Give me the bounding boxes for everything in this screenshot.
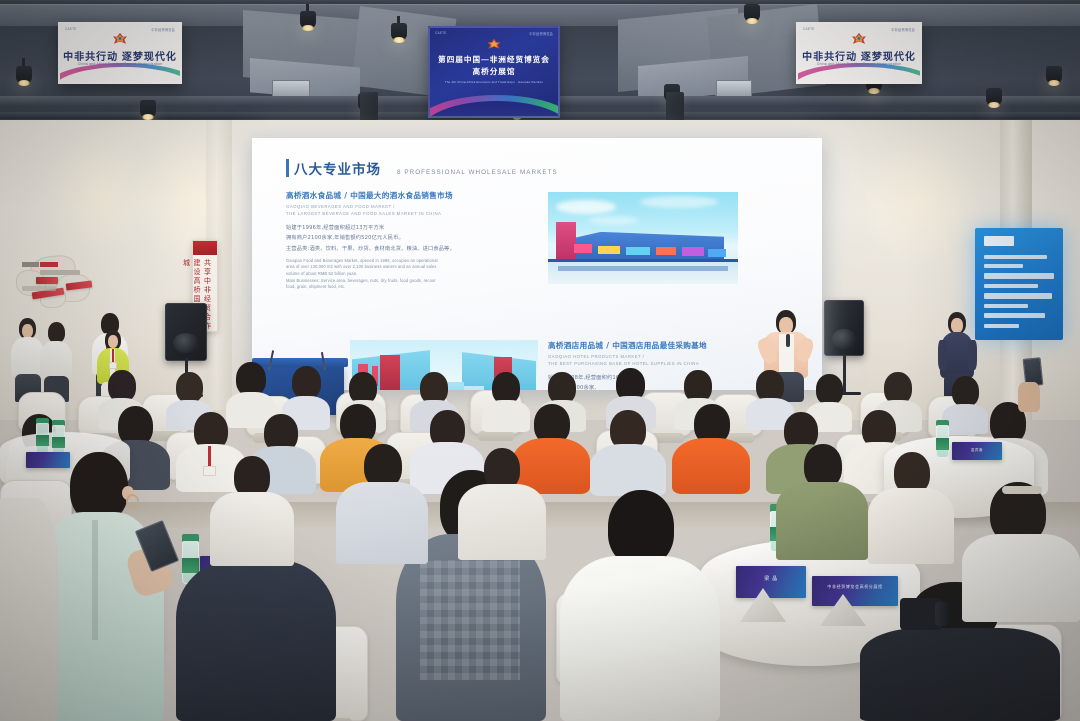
block-body-en-1: area of over 130,000 m2 with over 2,100 … [286, 264, 536, 271]
audience-body [590, 444, 666, 496]
attendee-mid-1 [336, 444, 428, 564]
ceiling-spotlight [1046, 66, 1062, 84]
banner-title-cn-line1: 第四届中国—非洲经贸博览会 [430, 54, 558, 65]
kiosk-header-bar [984, 236, 1014, 246]
block-body-en-0: Gaoqiao Food and Beverages Market, opene… [286, 258, 536, 265]
slide-title-en: 8 PROFESSIONAL WHOLESALE MARKETS [397, 169, 558, 179]
wall-tag-red [40, 262, 58, 267]
name-card: 梁 晶 [736, 566, 806, 598]
banner-logo-right: 中非经贸博览会 [529, 31, 553, 36]
ceiling-spotlight [744, 4, 760, 22]
slide-title-bar: 八大专业市场 8 PROFESSIONAL WHOLESALE MARKETS [286, 158, 800, 178]
block-body-en-4: food, grain, shipment food, etc. [286, 284, 536, 291]
audience-body [672, 438, 750, 494]
name-card-text: 嘉宾席 [952, 447, 1002, 452]
banner-title-cn-line2: 高桥分展馆 [430, 66, 558, 77]
attendee-mid-4 [868, 452, 954, 564]
banner-subtitle-en: The 4th China-Africa Economic and Trade … [430, 80, 558, 84]
standing-person-2 [40, 322, 76, 402]
block-body-en-2: volume of about RMB 52 billion yuan. [286, 271, 536, 278]
slide-content-grid: 高桥酒水食品城 / 中国最大的酒水食品销售市场 GAOQIAO BEVERAGE… [286, 190, 800, 390]
earring [126, 494, 139, 509]
attendee-white-shirt [560, 490, 720, 721]
wall-tag [22, 286, 56, 291]
ceiling-spotlight [391, 23, 407, 41]
banner-title-cn: 中非共行动 逐梦现代化 [798, 48, 920, 63]
ceiling-banner-right: CAETE 中非经贸博览会 中非共行动 逐梦现代化 China and Afri… [796, 22, 922, 84]
ceiling: CAETE 中非经贸博览会 中非共行动 逐梦现代化 China and Afri… [0, 0, 1080, 128]
audience-head [816, 374, 843, 405]
wall-tag-red [36, 277, 58, 284]
attendee-mid-3 [776, 444, 868, 560]
block-body-cn-1: 拥有商户2100余家,年销售额约520亿元人民币。 [286, 233, 536, 243]
expo-emblem-icon [111, 32, 129, 45]
audience-body [482, 400, 530, 432]
camera[interactable] [900, 598, 942, 630]
audience-head [952, 376, 979, 407]
ceiling-banner-center: CAETE 中非经贸博览会 第四届中国—非洲经贸博览会 高桥分展馆 The 4t… [428, 26, 560, 118]
audience-head [176, 372, 203, 403]
water-bottle[interactable] [36, 418, 49, 454]
attendee-mid-2 [458, 448, 546, 560]
wall-tag [22, 262, 39, 267]
water-bottle[interactable] [52, 420, 65, 456]
block-heading-cn: 高桥酒水食品城 / 中国最大的酒水食品销售市场 [286, 190, 536, 201]
hanging-speaker [360, 92, 378, 122]
slide-block-beverage-text: 高桥酒水食品城 / 中国最大的酒水食品销售市场 GAOQIAO BEVERAGE… [286, 190, 536, 291]
floor-speaker-left [165, 303, 207, 361]
speaker-stand [843, 354, 846, 394]
ceiling-spotlight [986, 88, 1002, 106]
wall-tag [40, 270, 80, 275]
ceiling-spotlight [140, 100, 156, 118]
ceiling-banner-left: CAETE 中非经贸博览会 中非共行动 逐梦现代化 China and Afri… [58, 22, 182, 84]
block-body-cn-0: 始建于1996年,经营面积超过13万平方米 [286, 223, 536, 233]
raised-hand [1018, 382, 1040, 412]
banner-logo-left: CAETE [435, 31, 447, 36]
hair-clip [1002, 486, 1042, 494]
block-heading-en-2: THE LARGEST BEVERAGE AND FOOD SALES MARK… [286, 211, 536, 218]
floor-speaker-right [824, 300, 864, 356]
ceiling-spotlight [16, 66, 32, 84]
slide-title-cn: 八大专业市场 [294, 158, 381, 178]
banner-logo-right: 中非经贸博览会 [151, 27, 175, 32]
audience-head [236, 362, 266, 396]
expo-emblem-icon [486, 38, 502, 50]
block-heading-en-1: GAOQIAO BEVERAGES AND FOOD MARKET / [286, 204, 536, 211]
banner-logo-left: CAETE [65, 27, 77, 32]
audience-head [292, 366, 321, 399]
banner-logo-left: CAETE [803, 27, 815, 32]
block-body-en-3: Main Businesses: Service area, beverages… [286, 278, 536, 285]
attendee-photographer [962, 472, 1080, 622]
banner-logo-right: 中非经贸博览会 [891, 27, 915, 32]
block-body-cn-2: 主营品类:酒类、饮料、干果、炒货、食材南北货、粮油、进口食品等。 [286, 244, 536, 254]
slide-photo-beverage-market [548, 192, 738, 284]
expo-emblem-icon [850, 32, 868, 45]
badge [109, 362, 117, 369]
name-card-text: 梁 晶 [736, 575, 806, 582]
attendee-mid-5 [210, 456, 294, 566]
hanging-speaker [666, 92, 684, 122]
slide-title-accent-bar [286, 159, 289, 177]
projection-screen: 八大专业市场 8 PROFESSIONAL WHOLESALE MARKETS … [252, 138, 822, 390]
banner-title-cn: 中非共行动 逐梦现代化 [60, 48, 180, 63]
name-card: 嘉宾席 [952, 442, 1002, 460]
digital-info-screen[interactable] [975, 228, 1063, 340]
conference-hall-photo: CAETE 中非经贸博览会 中非共行动 逐梦现代化 China and Afri… [0, 0, 1080, 721]
ceiling-spotlight [300, 11, 316, 29]
microphone-icon [786, 334, 790, 347]
attendee-left-edge [0, 498, 58, 721]
